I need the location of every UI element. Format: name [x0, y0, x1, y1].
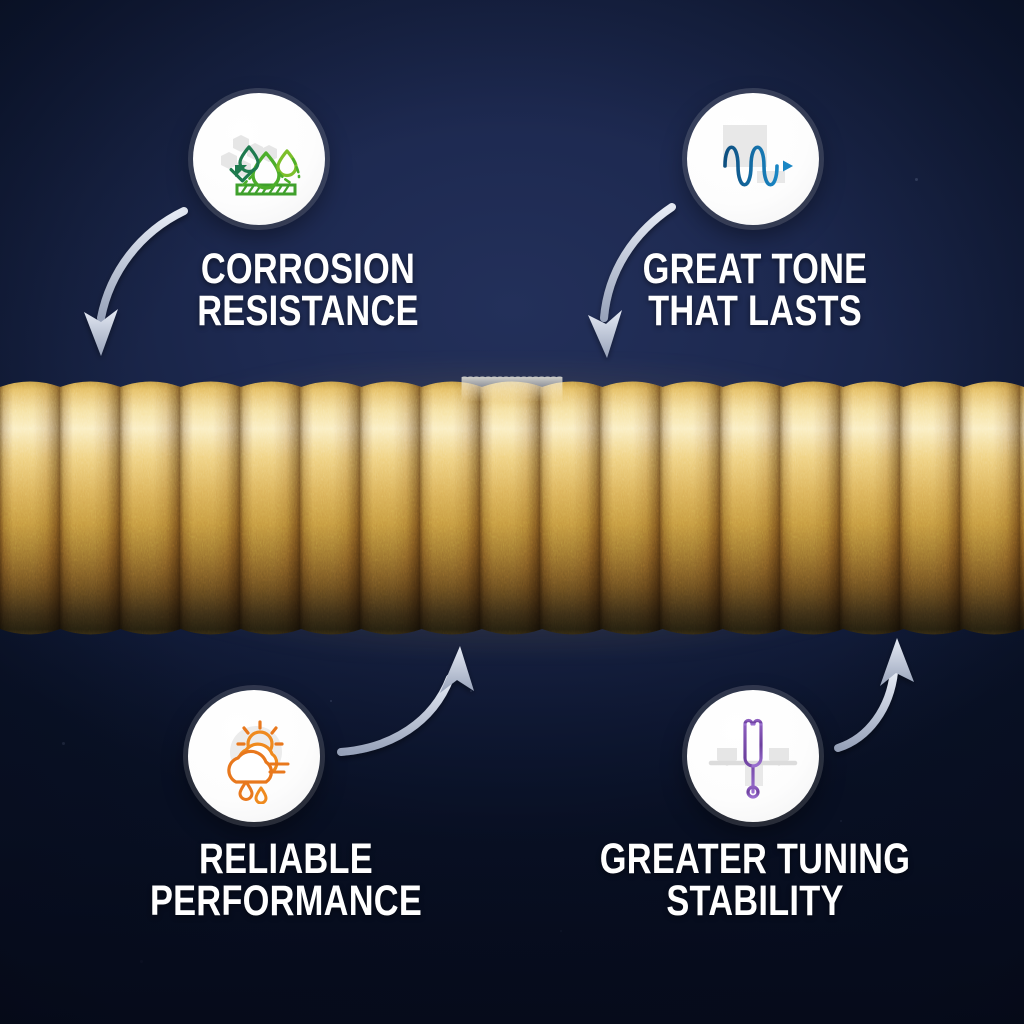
feature-badge-great-tone[interactable]: [687, 93, 819, 225]
feature-badge-corrosion-resistance[interactable]: [193, 93, 325, 225]
feature-badge-reliable-performance[interactable]: [188, 690, 320, 822]
weather-sun-cloud-rain-icon: [206, 708, 302, 804]
feature-label-great-tone: GREAT TONE THAT LASTS: [579, 248, 931, 332]
tuning-fork-icon: [705, 708, 801, 804]
feature-badge-greater-tuning-stability[interactable]: [687, 690, 819, 822]
string-grain-texture: [0, 376, 1024, 640]
water-repellent-coating-icon: [211, 111, 307, 207]
feature-label-corrosion-resistance: CORROSION RESISTANCE: [132, 248, 484, 332]
gold-string-image: [0, 376, 1024, 640]
infographic-canvas: CORROSION RESISTANCE GREAT TONE THAT LAS…: [0, 0, 1024, 1024]
feature-label-reliable-performance: RELIABLE PERFORMANCE: [110, 838, 462, 922]
sound-wave-icon: [705, 111, 801, 207]
feature-label-greater-tuning-stability: GREATER TUNING STABILITY: [563, 838, 947, 922]
